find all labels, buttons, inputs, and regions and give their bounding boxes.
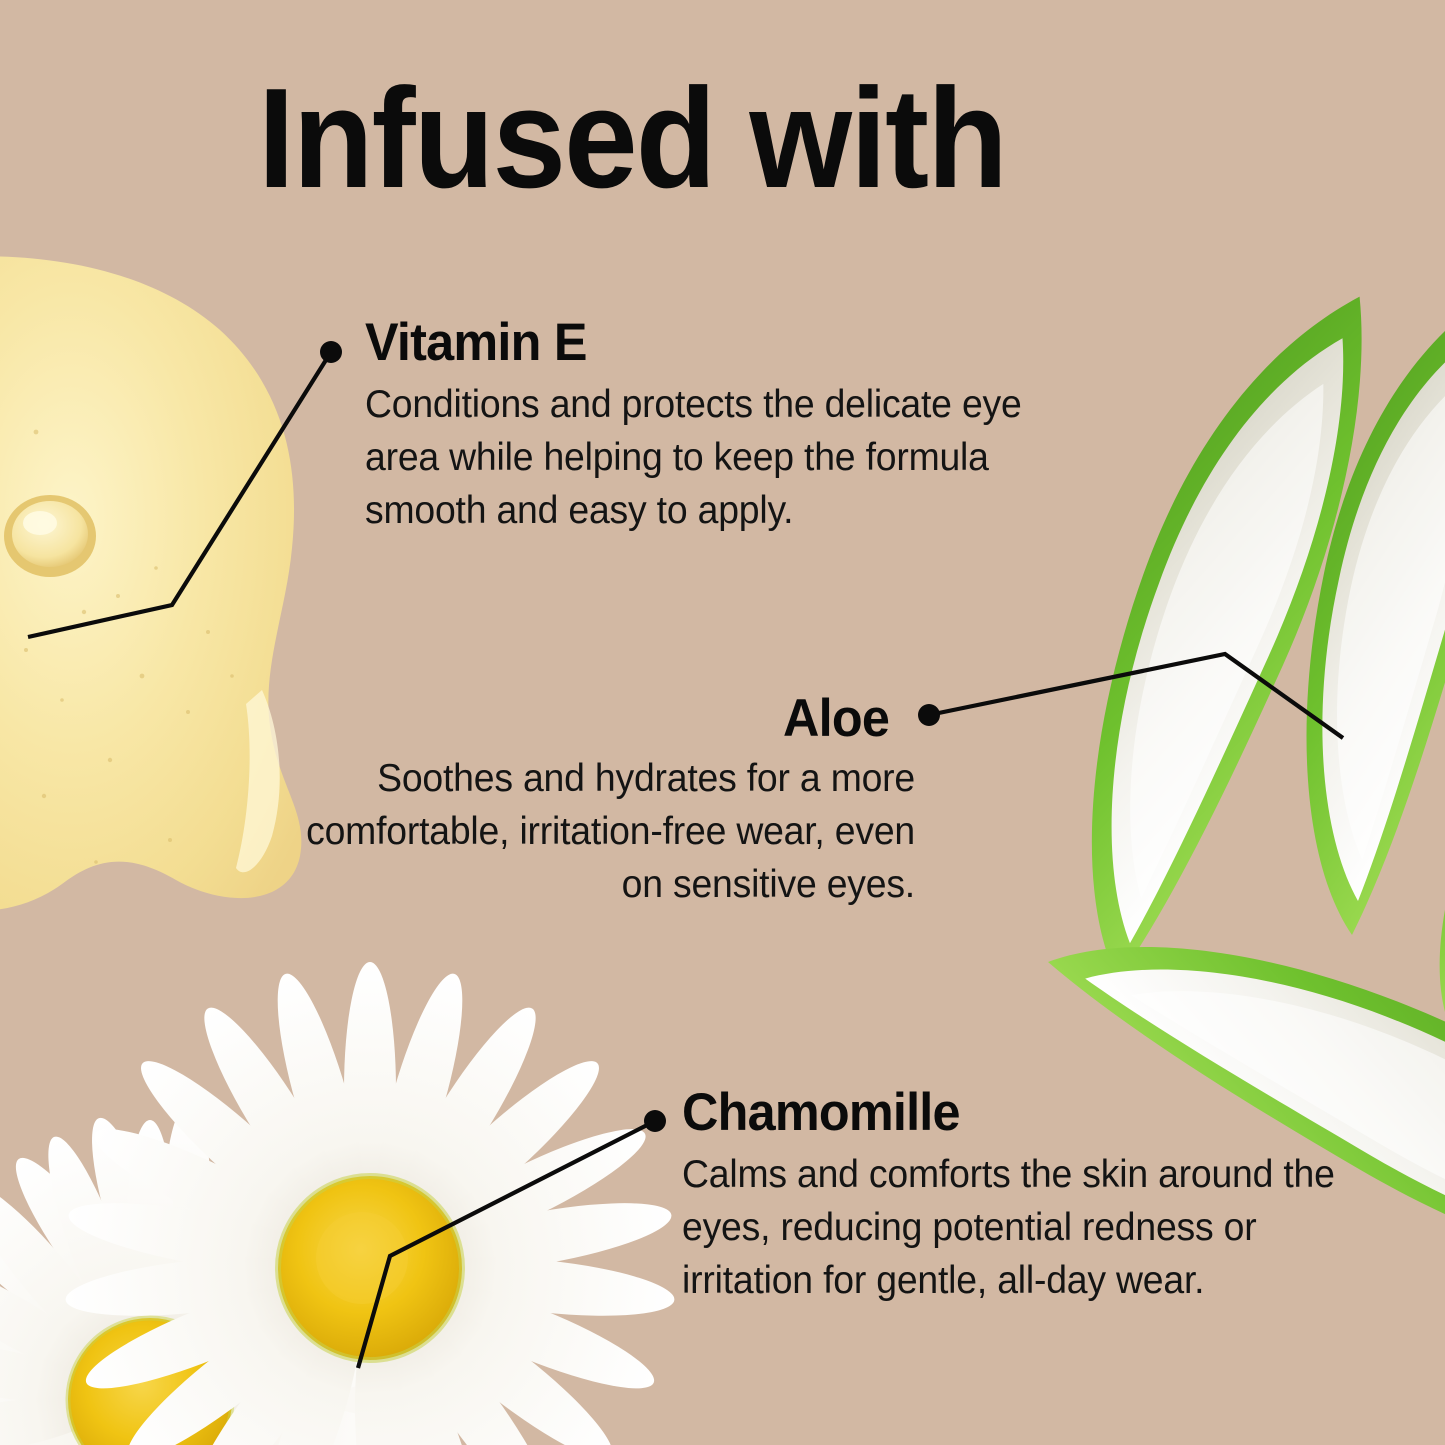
ingredient-description-aloe: Soothes and hydrates for a more comforta… [260, 752, 915, 911]
daisy-back [0, 1104, 476, 1445]
ingredient-description-vitamin-e: Conditions and protects the delicate eye… [365, 378, 1044, 537]
chamomile-flowers-illustration [0, 962, 677, 1445]
serum-bubble-icon [4, 495, 96, 577]
leader-line-chamomille [358, 1121, 655, 1368]
serum-blob-shape [0, 256, 301, 910]
ingredient-title-vitamin-e: Vitamin E [365, 316, 587, 369]
daisy-center [68, 1318, 232, 1445]
leader-dot-vitamin-e-icon [320, 341, 342, 363]
infused-with-poster: Infused with Vitamin E Conditions and pr… [0, 0, 1445, 1445]
daisy-left [0, 1120, 430, 1445]
ingredient-title-aloe: Aloe [783, 692, 889, 745]
leader-line-aloe [929, 654, 1343, 738]
ingredient-description-chamomille: Calms and comforts the skin around the e… [682, 1148, 1342, 1307]
leader-dot-chamomille-icon [644, 1110, 666, 1132]
leader-dot-aloe-icon [918, 704, 940, 726]
leader-line-vitamin-e [28, 352, 331, 637]
serum-speckles [24, 430, 234, 864]
ingredient-title-chamomille: Chamomille [682, 1086, 960, 1139]
daisy-center [278, 1176, 462, 1360]
daisy-center [102, 1306, 274, 1445]
serum-blob-illustration [0, 256, 301, 910]
daisy-main [63, 962, 677, 1445]
page-title: Infused with [258, 68, 1006, 210]
